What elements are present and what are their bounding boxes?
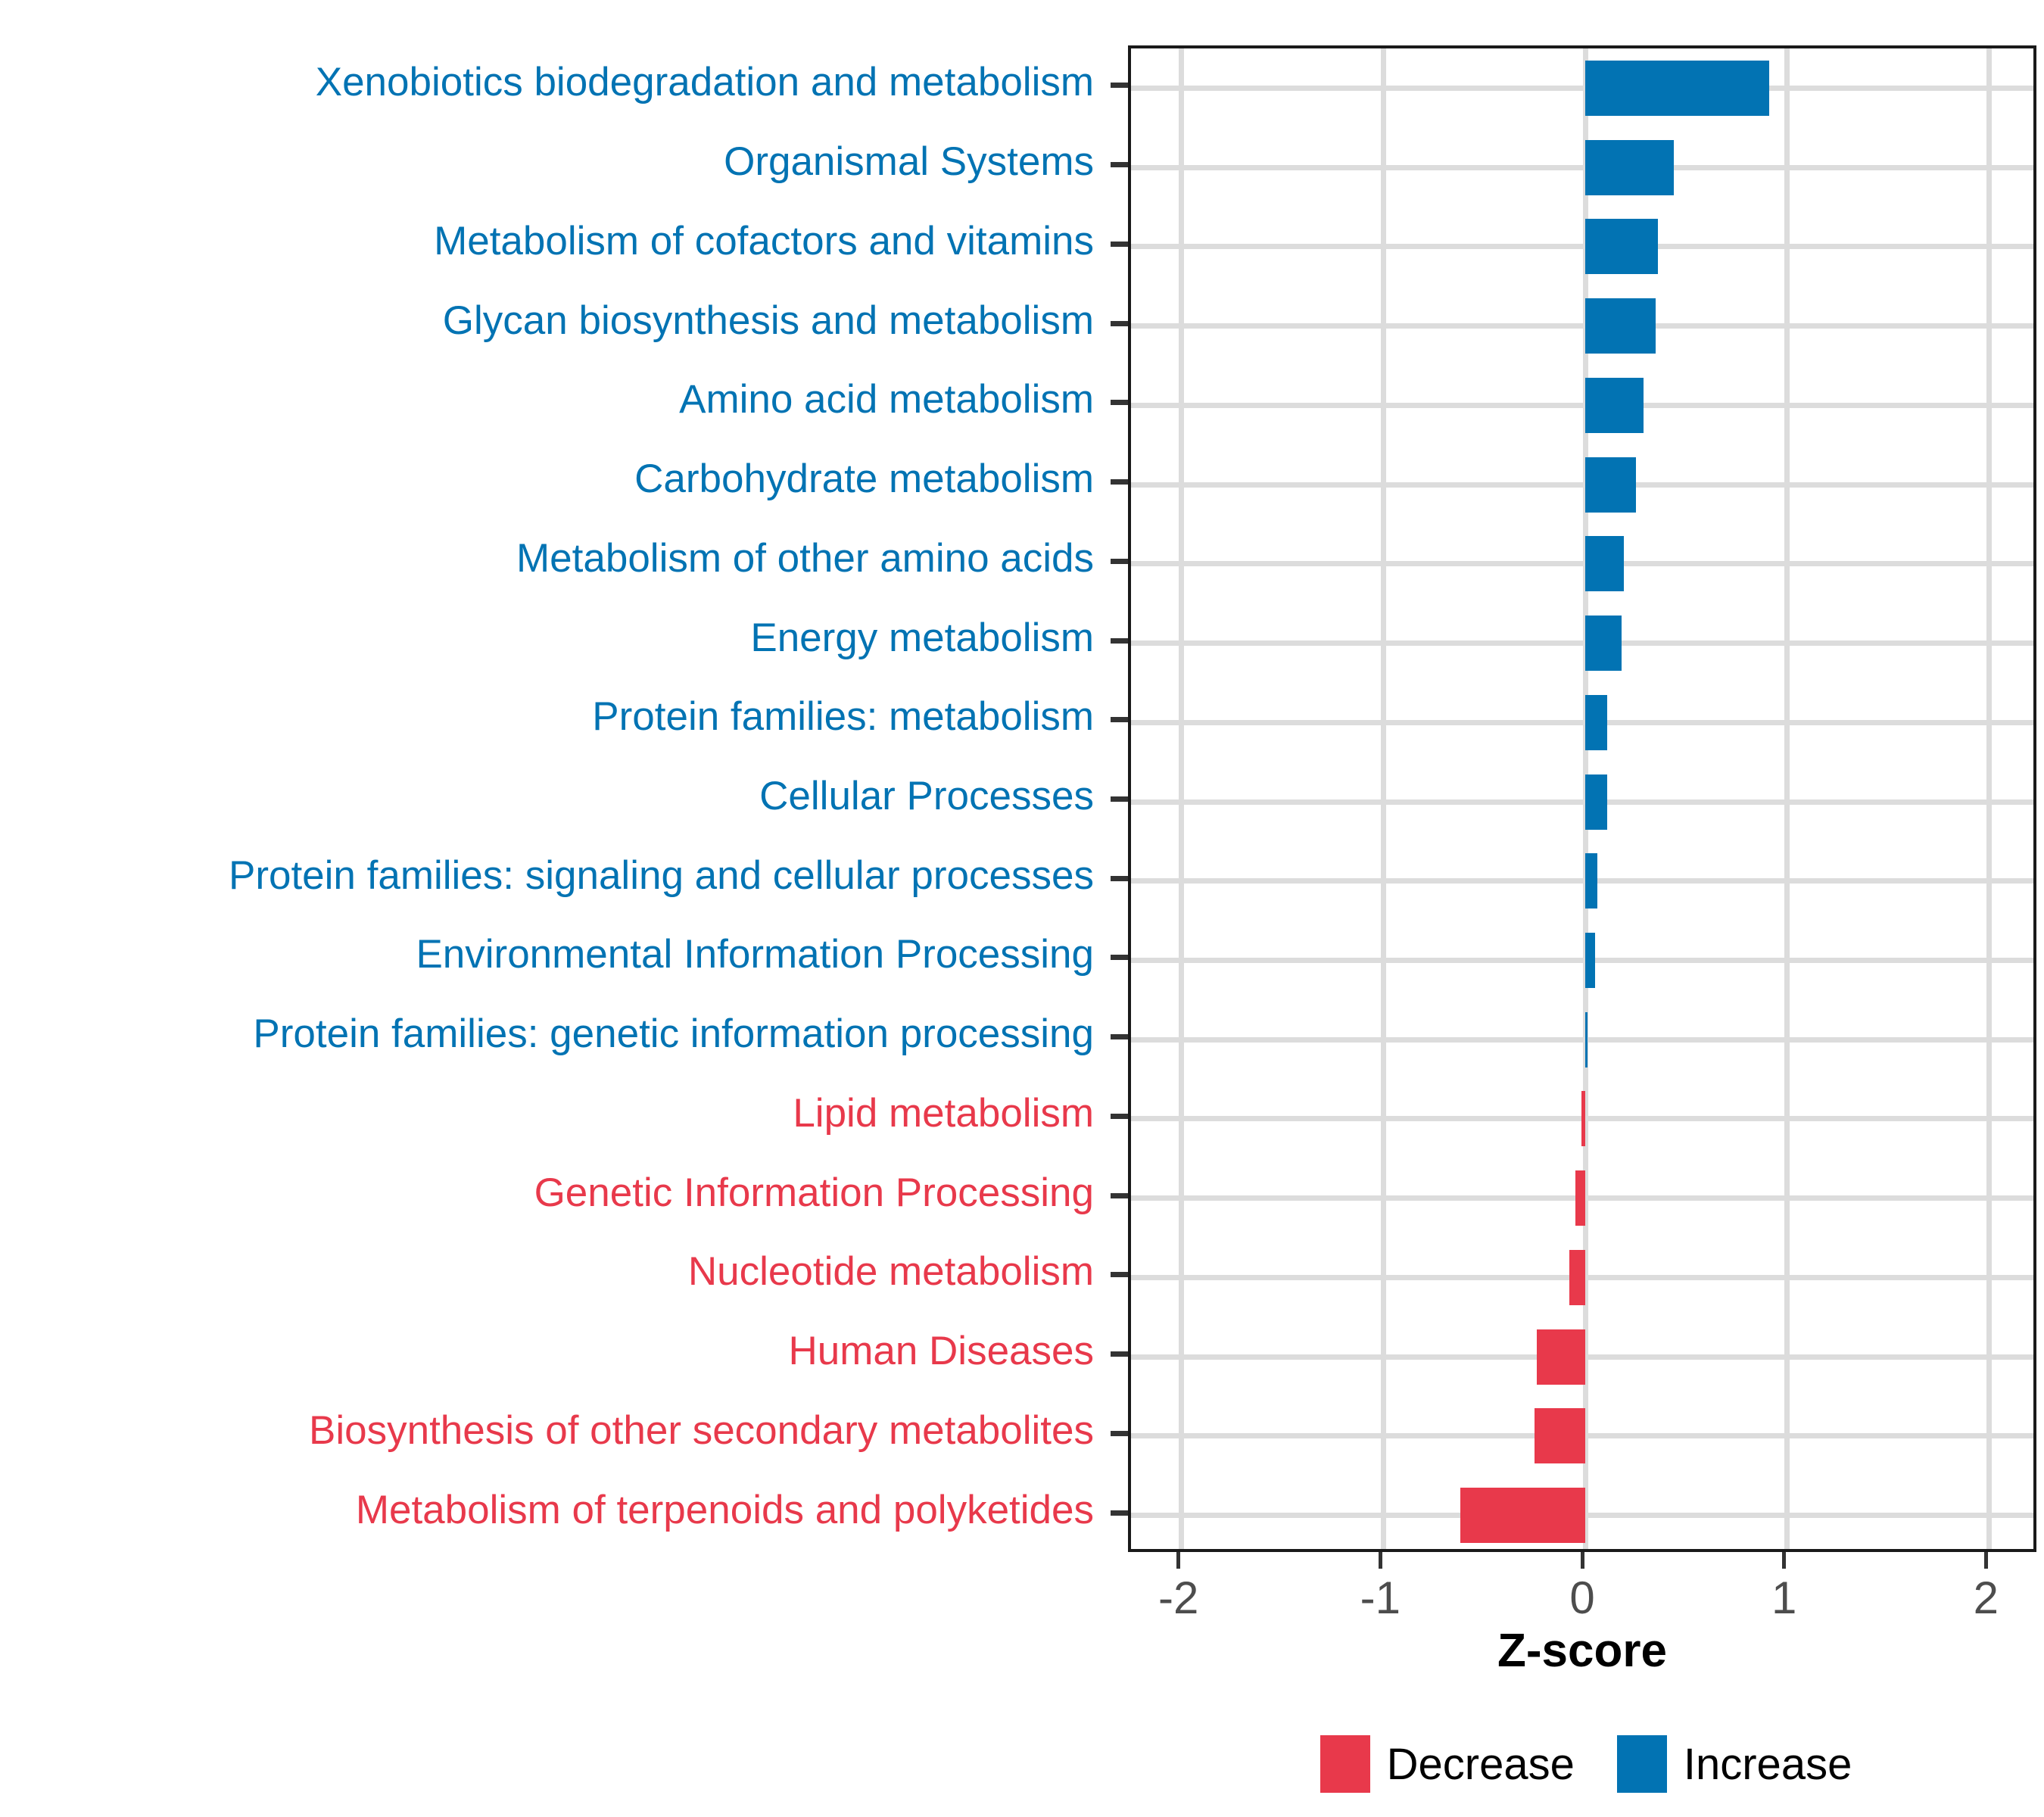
- legend-item-increase[interactable]: Increase: [1617, 1735, 1852, 1793]
- y-axis-tick-mark: [1111, 1034, 1128, 1039]
- bar[interactable]: [1581, 1091, 1585, 1146]
- y-axis-label-text: Metabolism of other amino acids: [516, 538, 1094, 578]
- y-axis-label: Cellular Processes: [0, 776, 1094, 816]
- y-axis-tick-mark: [1111, 955, 1128, 960]
- y-axis-label-text: Protein families: genetic information pr…: [253, 1014, 1094, 1054]
- bar[interactable]: [1535, 1408, 1585, 1463]
- bar[interactable]: [1537, 1329, 1585, 1385]
- y-axis-tick-mark: [1111, 1510, 1128, 1516]
- y-axis-label-text: Organismal Systems: [724, 142, 1094, 182]
- y-axis-label: Biosynthesis of other secondary metaboli…: [0, 1410, 1094, 1451]
- y-axis-label-text: Genetic Information Processing: [534, 1173, 1094, 1213]
- y-axis-label: Protein families: signaling and cellular…: [0, 856, 1094, 896]
- bar[interactable]: [1460, 1488, 1585, 1543]
- y-axis-label-text: Biosynthesis of other secondary metaboli…: [309, 1410, 1094, 1451]
- x-axis-tick-mark: [1984, 1552, 1988, 1569]
- y-axis-tick-mark: [1111, 876, 1128, 881]
- bar[interactable]: [1585, 853, 1597, 908]
- y-axis-label-text: Human Diseases: [788, 1331, 1094, 1371]
- y-axis-tick-mark: [1111, 83, 1128, 88]
- x-axis-tick-mark: [1176, 1552, 1180, 1569]
- x-axis: -2-1012: [1128, 1552, 2036, 1635]
- bar[interactable]: [1575, 1170, 1585, 1226]
- legend-swatch-increase-icon: [1617, 1735, 1667, 1793]
- y-axis-label: Carbohydrate metabolism: [0, 459, 1094, 499]
- bar[interactable]: [1585, 536, 1624, 591]
- y-axis-label-text: Protein families: signaling and cellular…: [229, 856, 1094, 896]
- bar[interactable]: [1585, 695, 1607, 750]
- y-axis-category-labels: Xenobiotics biodegradation and metabolis…: [0, 45, 1105, 1552]
- legend-label-increase: Increase: [1684, 1739, 1852, 1790]
- horizontal-gridline: [1131, 640, 2033, 646]
- x-axis-tick-mark: [1581, 1552, 1584, 1569]
- bar[interactable]: [1585, 457, 1636, 513]
- x-axis-title: Z-score: [1128, 1624, 2036, 1678]
- y-axis-label: Amino acid metabolism: [0, 379, 1094, 419]
- x-axis-tick-label: 2: [1974, 1572, 1999, 1624]
- y-axis-tick-mark: [1111, 1193, 1128, 1198]
- horizontal-gridline: [1131, 323, 2033, 329]
- y-axis-tick-mark: [1111, 162, 1128, 167]
- horizontal-gridline: [1131, 244, 2033, 249]
- y-axis-label: Metabolism of cofactors and vitamins: [0, 221, 1094, 261]
- legend-item-decrease[interactable]: Decrease: [1320, 1735, 1575, 1793]
- horizontal-gridline: [1131, 165, 2033, 170]
- y-axis-label: Human Diseases: [0, 1331, 1094, 1371]
- y-axis-tick-mark: [1111, 479, 1128, 485]
- x-axis-tick-label: 1: [1771, 1572, 1796, 1624]
- y-axis-label-text: Protein families: metabolism: [592, 697, 1094, 737]
- y-axis-label-text: Carbohydrate metabolism: [634, 459, 1094, 499]
- y-axis-tick-mark: [1111, 1272, 1128, 1277]
- y-axis-label-text: Amino acid metabolism: [679, 379, 1094, 419]
- y-axis-label: Protein families: genetic information pr…: [0, 1014, 1094, 1054]
- bar[interactable]: [1585, 1012, 1588, 1067]
- y-axis-label-text: Lipid metabolism: [793, 1093, 1094, 1133]
- y-axis-label-text: Energy metabolism: [750, 618, 1094, 658]
- bar[interactable]: [1585, 219, 1658, 274]
- horizontal-gridline: [1131, 482, 2033, 488]
- horizontal-gridline: [1131, 799, 2033, 805]
- y-axis-label: Genetic Information Processing: [0, 1173, 1094, 1213]
- plot-panel: [1128, 45, 2036, 1552]
- y-axis-tick-mark: [1111, 1431, 1128, 1436]
- y-axis-label: Xenobiotics biodegradation and metabolis…: [0, 62, 1094, 102]
- y-axis-tick-mark: [1111, 321, 1128, 326]
- bar[interactable]: [1569, 1250, 1585, 1305]
- horizontal-gridline: [1131, 86, 2033, 91]
- y-axis-label: Organismal Systems: [0, 142, 1094, 182]
- y-axis-label: Lipid metabolism: [0, 1093, 1094, 1133]
- y-axis-label-text: Metabolism of cofactors and vitamins: [434, 221, 1094, 261]
- horizontal-gridline: [1131, 878, 2033, 884]
- horizontal-gridline: [1131, 561, 2033, 566]
- y-axis-tick-mark: [1111, 400, 1128, 405]
- x-axis-tick-label: 0: [1569, 1572, 1594, 1624]
- y-axis-tick-mark: [1111, 242, 1128, 247]
- legend-swatch-decrease-icon: [1320, 1735, 1370, 1793]
- bar[interactable]: [1585, 61, 1769, 116]
- y-axis-label-text: Metabolism of terpenoids and polyketides: [356, 1490, 1094, 1530]
- y-axis-label: Metabolism of other amino acids: [0, 538, 1094, 578]
- y-axis-label-text: Cellular Processes: [759, 776, 1094, 816]
- bar[interactable]: [1585, 774, 1607, 830]
- y-axis-tick-mark: [1111, 796, 1128, 802]
- bar[interactable]: [1585, 298, 1656, 354]
- horizontal-gridline: [1131, 403, 2033, 408]
- kegg-zscore-bar-chart: Xenobiotics biodegradation and metabolis…: [0, 0, 2044, 1817]
- legend: Decrease Increase: [1128, 1730, 2044, 1798]
- x-axis-tick-mark: [1379, 1552, 1382, 1569]
- y-axis-label: Protein families: metabolism: [0, 697, 1094, 737]
- y-axis-tick-mark: [1111, 559, 1128, 564]
- y-axis-label: Nucleotide metabolism: [0, 1251, 1094, 1292]
- x-axis-tick-label: -1: [1360, 1572, 1401, 1624]
- y-axis-label: Metabolism of terpenoids and polyketides: [0, 1490, 1094, 1530]
- y-axis-tick-mark: [1111, 717, 1128, 722]
- bar[interactable]: [1585, 140, 1674, 195]
- y-axis-tick-mark: [1111, 1351, 1128, 1357]
- y-axis-label: Energy metabolism: [0, 618, 1094, 658]
- legend-label-decrease: Decrease: [1387, 1739, 1575, 1790]
- bar[interactable]: [1585, 378, 1644, 433]
- y-axis-label: Environmental Information Processing: [0, 934, 1094, 974]
- horizontal-gridline: [1131, 1037, 2033, 1043]
- y-axis-label-text: Glycan biosynthesis and metabolism: [443, 301, 1094, 341]
- y-axis-label: Glycan biosynthesis and metabolism: [0, 301, 1094, 341]
- x-axis-tick-label: -2: [1158, 1572, 1198, 1624]
- horizontal-gridline: [1131, 958, 2033, 963]
- bar[interactable]: [1585, 933, 1595, 988]
- y-axis-label-text: Xenobiotics biodegradation and metabolis…: [316, 62, 1094, 102]
- x-axis-tick-mark: [1782, 1552, 1786, 1569]
- horizontal-gridline: [1131, 720, 2033, 725]
- y-axis-label-text: Environmental Information Processing: [416, 934, 1094, 974]
- y-axis-tick-mark: [1111, 638, 1128, 644]
- y-axis-tick-mark: [1111, 1114, 1128, 1119]
- bar[interactable]: [1585, 616, 1622, 671]
- y-axis-label-text: Nucleotide metabolism: [688, 1251, 1094, 1292]
